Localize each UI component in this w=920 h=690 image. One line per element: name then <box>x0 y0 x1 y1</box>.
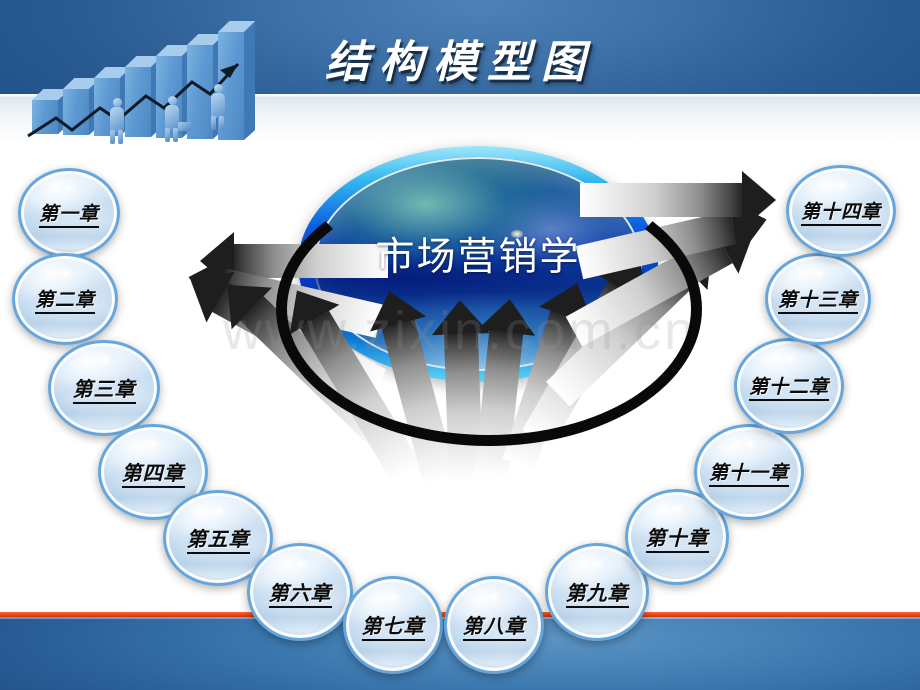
chapter-label: 第十二章 <box>749 372 829 401</box>
businessman-icon <box>210 84 226 132</box>
chapter-bubble[interactable]: 第十二章 <box>734 338 844 434</box>
chapter-bubble[interactable]: 第一章 <box>18 168 120 258</box>
chapter-label: 第五章 <box>187 523 250 554</box>
chapter-bubble[interactable]: 第三章 <box>48 340 160 436</box>
page-title: 结构模型图 <box>0 26 920 90</box>
businessman-icon <box>109 98 125 146</box>
chapter-bubble[interactable]: 第十一章 <box>694 424 804 520</box>
arc-divider <box>276 172 702 446</box>
chapter-label: 第十四章 <box>801 197 881 226</box>
chapter-label: 第三章 <box>73 373 136 404</box>
chapter-label: 第六章 <box>269 577 332 608</box>
chapter-bubble[interactable]: 第十三章 <box>765 253 871 345</box>
chapter-label: 第二章 <box>35 285 95 314</box>
chapter-bubble[interactable]: 第七章 <box>343 576 443 674</box>
chapter-bubble[interactable]: 第八章 <box>444 576 544 674</box>
chapter-bubble[interactable]: 第六章 <box>247 543 353 641</box>
chapter-bubble[interactable]: 第十四章 <box>786 165 896 257</box>
chapter-bubble[interactable]: 第二章 <box>12 253 118 345</box>
chapter-label: 第八章 <box>463 610 526 641</box>
chapter-label: 第十章 <box>646 522 709 553</box>
chapter-label: 第十一章 <box>709 458 789 487</box>
center-label: 市场营销学 <box>298 226 658 282</box>
businessman-icon <box>164 96 180 144</box>
chapter-label: 第一章 <box>39 199 99 228</box>
chapter-label: 第十三章 <box>778 285 858 314</box>
slide-canvas: 结构模型图 www.zixin.com.cn 市场营销学 第一章第二章第三章第四… <box>0 0 920 690</box>
chapter-label: 第九章 <box>566 577 629 608</box>
chapter-label: 第七章 <box>362 610 425 641</box>
chapter-label: 第四章 <box>122 457 185 488</box>
